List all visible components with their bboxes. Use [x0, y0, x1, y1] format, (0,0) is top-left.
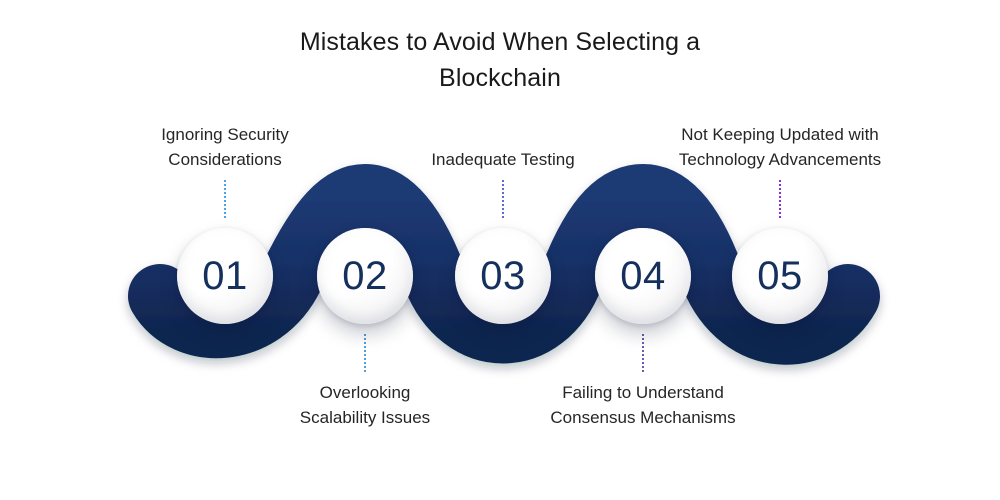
step-number-04: 04 [620, 256, 666, 296]
step-circle-04[interactable]: 04 [595, 228, 691, 324]
page-title-line-2: Blockchain [0, 60, 1000, 96]
step-connector-04 [642, 334, 644, 372]
step-connector-01 [224, 180, 226, 218]
step-label-line-2-05: Technology Advancements [580, 147, 980, 172]
step-number-02: 02 [342, 256, 388, 296]
step-number-01: 01 [202, 256, 248, 296]
infographic-canvas: Mistakes to Avoid When Selecting a Block… [0, 0, 1000, 500]
step-label-line-1-01: Ignoring Security [25, 122, 425, 147]
step-label-line-2-04: Consensus Mechanisms [443, 405, 843, 430]
step-number-03: 03 [480, 256, 526, 296]
step-circle-02[interactable]: 02 [317, 228, 413, 324]
step-label-04: Failing to UnderstandConsensus Mechanism… [443, 380, 843, 430]
step-circle-03[interactable]: 03 [455, 228, 551, 324]
step-connector-02 [364, 334, 366, 372]
step-connector-03 [502, 180, 504, 218]
step-label-line-1-04: Failing to Understand [443, 380, 843, 405]
page-title: Mistakes to Avoid When Selecting a Block… [0, 24, 1000, 96]
step-number-05: 05 [757, 256, 803, 296]
step-circle-05[interactable]: 05 [732, 228, 828, 324]
page-title-line-1: Mistakes to Avoid When Selecting a [0, 24, 1000, 60]
step-label-line-1-05: Not Keeping Updated with [580, 122, 980, 147]
step-label-05: Not Keeping Updated withTechnology Advan… [580, 122, 980, 172]
step-circle-01[interactable]: 01 [177, 228, 273, 324]
step-connector-05 [779, 180, 781, 218]
